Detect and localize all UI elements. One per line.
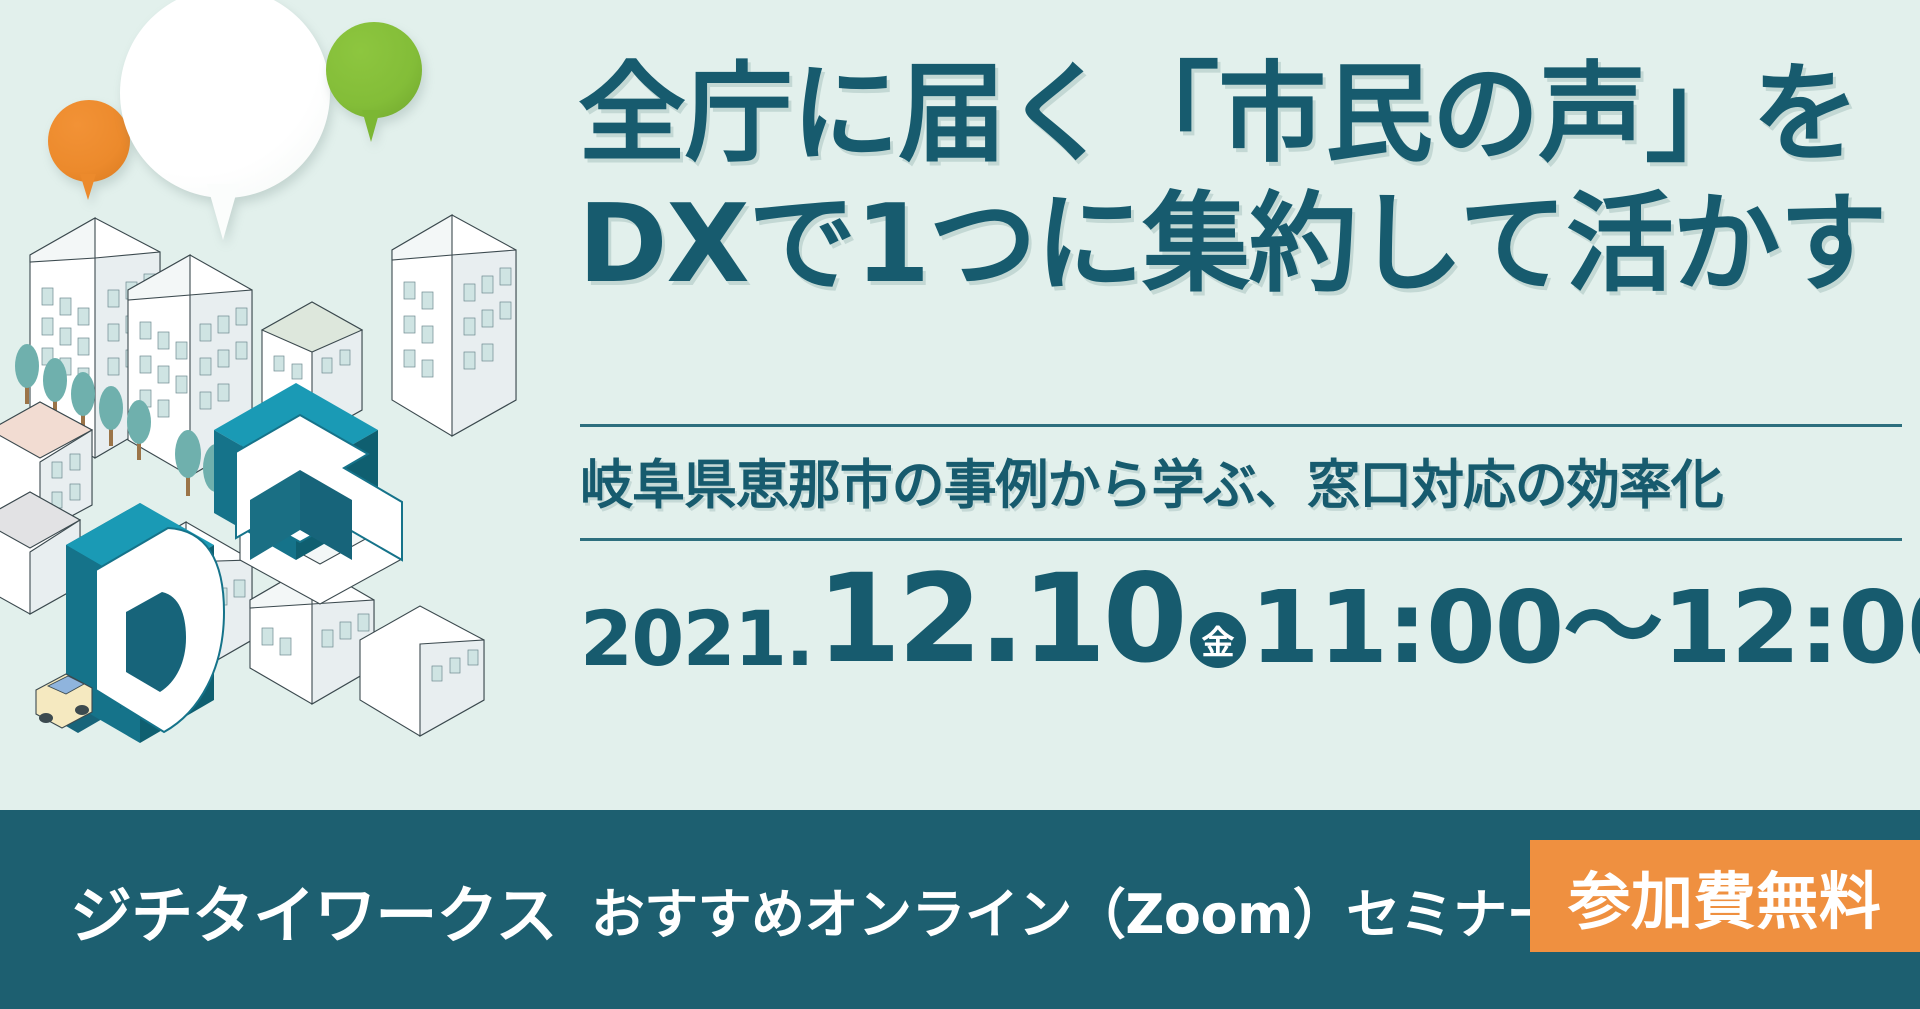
headline-line-2: DXで1つに集約して活かす！ xyxy=(578,188,1920,302)
illustration-panel: .bw{fill:#ffffff;stroke:#3c4a4f;stroke-w… xyxy=(0,0,560,810)
event-datetime: 2021 . 12.10 金 11:00〜12:00 xyxy=(580,556,1920,676)
divider-top xyxy=(580,424,1902,427)
free-badge-label: 参加費無料 xyxy=(1568,851,1881,941)
subtitle-text: 岐阜県恵那市の事例から学ぶ、窓口対応の効率化 xyxy=(580,443,1723,519)
date-separator: . xyxy=(785,603,814,676)
free-participation-badge: 参加費無料 xyxy=(1530,840,1920,952)
orange-speech-bubble xyxy=(48,100,130,182)
seminar-banner: .bw{fill:#ffffff;stroke:#3c4a4f;stroke-w… xyxy=(0,0,1920,1009)
green-speech-bubble xyxy=(326,22,422,118)
seminar-tagline: おすすめオンライン（Zoom）セミナー xyxy=(591,870,1560,949)
event-year: 2021 xyxy=(580,603,785,676)
banner-content: 全庁に届く「市民の声」を DXで1つに集約して活かす！ 岐阜県恵那市の事例から学… xyxy=(578,0,1920,810)
white-speech-bubble xyxy=(120,0,330,198)
weekday-badge: 金 xyxy=(1190,612,1246,668)
divider-bottom xyxy=(580,538,1902,541)
event-time-range: 11:00〜12:00 xyxy=(1250,580,1920,676)
headline-line-1: 全庁に届く「市民の声」を xyxy=(578,58,1858,172)
event-month-day: 12.10 xyxy=(816,563,1184,676)
bottom-bar: ジチタイワークス おすすめオンライン（Zoom）セミナー 参加費無料 xyxy=(0,810,1920,1009)
brand-logo-text: ジチタイワークス xyxy=(70,865,557,955)
